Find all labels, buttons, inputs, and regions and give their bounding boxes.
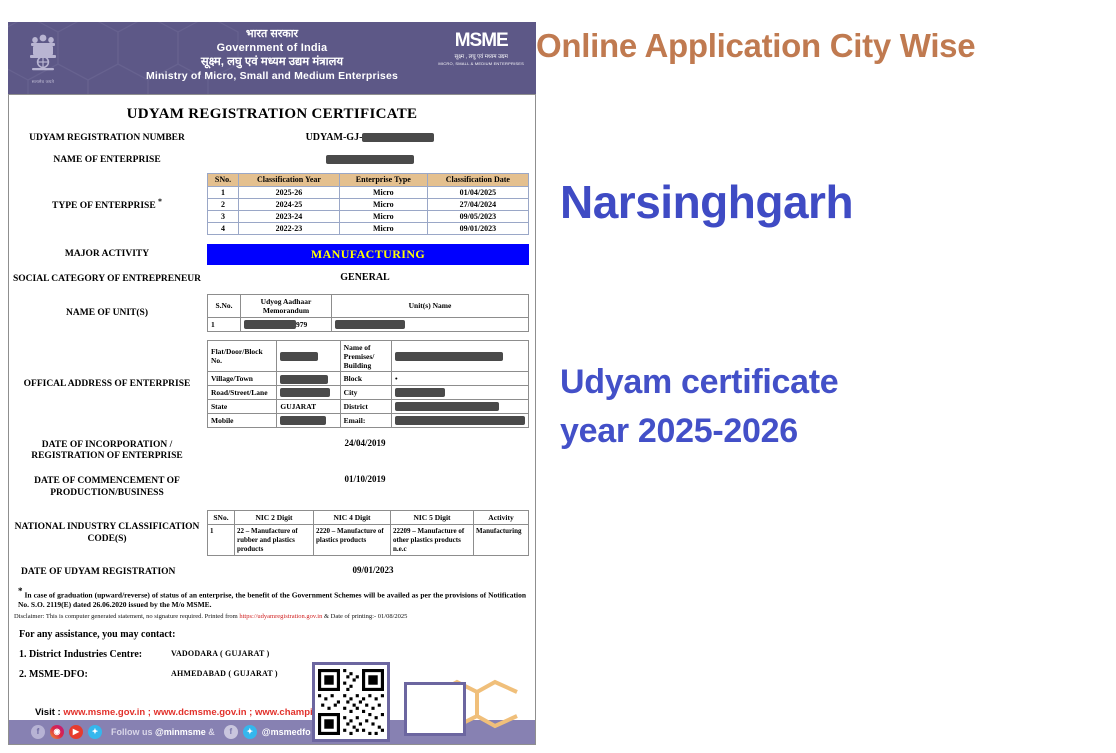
disclaimer-post: & Date of printing:- 01/08/2025	[322, 613, 407, 620]
certificate-title: UDYAM REGISTRATION CERTIFICATE	[9, 106, 535, 123]
cell-sno: 3	[208, 210, 239, 222]
cell-date: 27/04/2024	[427, 198, 528, 210]
table-row: 1 22 – Manufacture of rubber and plastic…	[208, 525, 529, 556]
flat-value	[277, 341, 340, 372]
redaction-bar	[395, 352, 503, 361]
cell-sno: 1	[208, 317, 241, 332]
table-header-row: S.No. Udyog Aadhaar Memorandum Unit(s) N…	[208, 294, 529, 317]
redaction-bar	[395, 388, 445, 397]
premises-value	[392, 341, 529, 372]
col-sno: SNo.	[208, 173, 239, 186]
city-name-heading: Narsinghgarh	[560, 175, 853, 229]
premises-label: Name of Premises/ Building	[340, 341, 391, 372]
city-label: City	[340, 386, 391, 400]
msme-logo: MSME सूक्ष्म , लघु एवं मध्यम उद्यम MICRO…	[438, 31, 524, 66]
block-value: •	[392, 372, 529, 386]
mobile-value	[277, 413, 340, 427]
certificate-year-line-1: Udyam certificate	[560, 358, 838, 407]
contact-value-dic: VADODARA ( GUJARAT )	[171, 649, 269, 660]
district-value	[392, 399, 529, 413]
ampersand: &	[206, 727, 215, 737]
contact-label-dfo: 2. MSME-DFO:	[19, 669, 171, 680]
graduation-note: * In case of graduation (upward/reverse)…	[18, 586, 526, 610]
redaction-bar	[280, 375, 328, 384]
handle-msmedfo[interactable]: @msmedfo	[262, 727, 311, 737]
road-label: Road/Street/Lane	[208, 386, 277, 400]
enterprise-name-value	[205, 153, 535, 165]
email-label: Email:	[340, 413, 391, 427]
date-udyam-registration-value: 09/01/2023	[221, 565, 535, 575]
cell-nic4: 2220 – Manufacture of plastics products	[314, 525, 391, 556]
contact-row-dic: 1. District Industries Centre: VADODARA …	[9, 649, 535, 660]
redaction-bar	[335, 320, 405, 329]
cell-type: Micro	[339, 222, 427, 234]
handle-minmsme[interactable]: @minmsme	[155, 727, 206, 737]
table-row: Road/Street/Lane City	[208, 386, 529, 400]
cell-uam-suffix: 979	[296, 320, 307, 329]
udyam-certificate-image: सत्यमेव जयते भारत सरकार Government of In…	[8, 22, 536, 745]
note-text: In case of graduation (upward/reverse) o…	[18, 591, 526, 610]
social-category-label: SOCIAL CATEGORY OF ENTREPRENEUR	[9, 272, 205, 286]
cell-uam: 979	[241, 317, 332, 332]
date-commencement-row: DATE OF COMMENCEMENT OF PRODUCTION/BUSIN…	[9, 474, 535, 500]
cell-date: 09/05/2023	[427, 210, 528, 222]
disclaimer-link[interactable]: https://udyamregistration.gov.in	[239, 613, 322, 620]
msme-logo-sub-hindi: सूक्ष्म , लघु एवं मध्यम उद्यम	[438, 52, 524, 60]
col-classification-date: Classification Date	[427, 173, 528, 186]
cell-type: Micro	[339, 198, 427, 210]
certificate-banner: सत्यमेव जयते भारत सरकार Government of In…	[8, 22, 536, 94]
table-header-row: SNo. Classification Year Enterprise Type…	[208, 173, 529, 186]
cell-nic2: 22 – Manufacture of rubber and plastics …	[235, 525, 314, 556]
facebook-icon[interactable]: f	[31, 725, 45, 739]
enterprise-name-row: NAME OF ENTERPRISE	[9, 153, 535, 167]
redaction-bar	[395, 416, 525, 425]
classification-table: SNo. Classification Year Enterprise Type…	[207, 173, 529, 235]
certificate-year-line-2: year 2025-2026	[560, 407, 838, 456]
redaction-bar	[244, 320, 296, 329]
nic-table: SNo. NIC 2 Digit NIC 4 Digit NIC 5 Digit…	[207, 510, 529, 556]
cell-nic5: 22209 – Manufacture of other plastics pr…	[391, 525, 474, 556]
cell-year: 2025-26	[239, 186, 340, 198]
panel-title: Online Application City Wise	[536, 27, 1116, 65]
date-commencement-value: 01/10/2019	[205, 474, 535, 484]
city-value	[392, 386, 529, 400]
table-row: State GUJARAT District	[208, 399, 529, 413]
enterprise-name-label: NAME OF ENTERPRISE	[9, 153, 205, 167]
type-of-enterprise-row: TYPE OF ENTERPRISE * SNo. Classification…	[9, 173, 535, 235]
col-unit-name: Unit(s) Name	[332, 294, 529, 317]
redaction-bar	[362, 133, 434, 142]
contact-value-dfo: AHMEDABAD ( GUJARAT )	[171, 669, 278, 680]
cell-year: 2024-25	[239, 198, 340, 210]
mobile-label: Mobile	[208, 413, 277, 427]
village-label: Village/Town	[208, 372, 277, 386]
table-row: 2 2024-25 Micro 27/04/2024	[208, 198, 529, 210]
qr-code-graphic	[318, 668, 384, 736]
facebook-icon[interactable]: f	[224, 725, 238, 739]
social-category-value: GENERAL	[205, 272, 535, 283]
redaction-bar	[280, 352, 318, 361]
udyam-number-label: UDYAM REGISTRATION NUMBER	[9, 131, 205, 145]
table-row: Mobile Email:	[208, 413, 529, 427]
redaction-bar	[326, 155, 414, 164]
date-udyam-registration-row: DATE OF UDYAM REGISTRATION 09/01/2023	[9, 565, 535, 579]
col-nic2: NIC 2 Digit	[235, 511, 314, 525]
flat-label: Flat/Door/Block No.	[208, 341, 277, 372]
follow-text: Follow us @minmsme &	[111, 727, 215, 737]
type-of-enterprise-label: TYPE OF ENTERPRISE *	[9, 195, 205, 213]
road-value	[277, 386, 340, 400]
block-label: Block	[340, 372, 391, 386]
redaction-bar	[280, 416, 326, 425]
major-activity-label: MAJOR ACTIVITY	[9, 247, 205, 261]
twitter-icon[interactable]: ✦	[243, 725, 257, 739]
redaction-bar	[395, 402, 499, 411]
type-of-enterprise-label-text: TYPE OF ENTERPRISE	[52, 201, 156, 211]
redaction-bar	[280, 388, 330, 397]
follow-label: Follow us	[111, 727, 155, 737]
cell-year: 2023-24	[239, 210, 340, 222]
name-of-units-row: NAME OF UNIT(S) S.No. Udyog Aadhaar Memo…	[9, 294, 535, 333]
col-uam: Udyog Aadhaar Memorandum	[241, 294, 332, 317]
nic-row: NATIONAL INDUSTRY CLASSIFICATION CODE(S)…	[9, 510, 535, 556]
right-text-panel: Online Application City Wise Narsinghgar…	[536, 0, 1116, 753]
table-header-row: SNo. NIC 2 Digit NIC 4 Digit NIC 5 Digit…	[208, 511, 529, 525]
certificate-year-heading: Udyam certificate year 2025-2026	[560, 358, 838, 457]
state-value: GUJARAT	[277, 399, 340, 413]
name-of-units-label: NAME OF UNIT(S)	[9, 306, 205, 320]
date-commencement-label: DATE OF COMMENCEMENT OF PRODUCTION/BUSIN…	[9, 474, 205, 500]
instagram-icon[interactable]: ◉	[50, 725, 64, 739]
col-sno: S.No.	[208, 294, 241, 317]
table-row: Flat/Door/Block No. Name of Premises/ Bu…	[208, 341, 529, 372]
official-address-row: OFFICAL ADDRESS OF ENTERPRISE Flat/Door/…	[9, 340, 535, 427]
qr-code[interactable]	[312, 662, 390, 742]
col-nic5: NIC 5 Digit	[391, 511, 474, 525]
village-value	[277, 372, 340, 386]
certificate-body: UDYAM REGISTRATION CERTIFICATE UDYAM REG…	[8, 94, 536, 745]
col-sno: SNo.	[208, 511, 235, 525]
disclaimer-line: Disclaimer: This is computer generated s…	[14, 613, 530, 620]
msme-logo-mark: MSME	[438, 31, 524, 50]
date-udyam-registration-label: DATE OF UDYAM REGISTRATION	[9, 565, 221, 579]
udyam-number-row: UDYAM REGISTRATION NUMBER UDYAM-GJ-	[9, 131, 535, 145]
date-incorporation-value: 24/04/2019	[205, 438, 535, 448]
table-row: 1 2025-26 Micro 01/04/2025	[208, 186, 529, 198]
official-address-label: OFFICAL ADDRESS OF ENTERPRISE	[9, 377, 205, 391]
visit-label: Visit :	[35, 707, 63, 718]
col-classification-year: Classification Year	[239, 173, 340, 186]
msme-logo-sub-english: MICRO, SMALL & MEDIUM ENTERPRISES	[438, 61, 524, 66]
cell-date: 01/04/2025	[427, 186, 528, 198]
table-row: 4 2022-23 Micro 09/01/2023	[208, 222, 529, 234]
col-nic4: NIC 4 Digit	[314, 511, 391, 525]
table-row: 1 979	[208, 317, 529, 332]
cell-type: Micro	[339, 186, 427, 198]
cell-sno: 2	[208, 198, 239, 210]
contact-label-dic: 1. District Industries Centre:	[19, 649, 171, 660]
twitter-icon[interactable]: ✦	[88, 725, 102, 739]
table-row: 3 2023-24 Micro 09/05/2023	[208, 210, 529, 222]
social-category-row: SOCIAL CATEGORY OF ENTREPRENEUR GENERAL	[9, 272, 535, 286]
cell-date: 09/01/2023	[427, 222, 528, 234]
address-table: Flat/Door/Block No. Name of Premises/ Bu…	[207, 340, 529, 427]
district-label: District	[340, 399, 391, 413]
unit-table: S.No. Udyog Aadhaar Memorandum Unit(s) N…	[207, 294, 529, 333]
table-row: Village/Town Block •	[208, 372, 529, 386]
udyam-number-value: UDYAM-GJ-	[205, 131, 535, 143]
cell-type: Micro	[339, 210, 427, 222]
major-activity-row: MAJOR ACTIVITY MANUFACTURING	[9, 244, 535, 265]
type-of-enterprise-asterisk: *	[158, 197, 162, 206]
state-label: State	[208, 399, 277, 413]
youtube-icon[interactable]: ▶	[69, 725, 83, 739]
cell-activity: Manufacturing	[474, 525, 529, 556]
classification-table-wrap: SNo. Classification Year Enterprise Type…	[205, 173, 539, 235]
nic-label: NATIONAL INDUSTRY CLASSIFICATION CODE(S)	[9, 520, 205, 546]
date-incorporation-label: DATE OF INCORPORATION / REGISTRATION OF …	[9, 438, 205, 464]
banner-line-english-2: Ministry of Micro, Small and Medium Ente…	[8, 70, 536, 83]
cell-sno: 4	[208, 222, 239, 234]
blank-white-box	[404, 682, 466, 736]
cell-sno: 1	[208, 186, 239, 198]
date-incorporation-row: DATE OF INCORPORATION / REGISTRATION OF …	[9, 438, 535, 464]
col-activity: Activity	[474, 511, 529, 525]
note-asterisk: *	[18, 586, 23, 596]
major-activity-value: MANUFACTURING	[207, 244, 529, 265]
col-enterprise-type: Enterprise Type	[339, 173, 427, 186]
cell-sno: 1	[208, 525, 235, 556]
udyam-number-text: UDYAM-GJ-	[306, 132, 363, 143]
cell-year: 2022-23	[239, 222, 340, 234]
cell-unit-name	[332, 317, 529, 332]
email-value	[392, 413, 529, 427]
disclaimer-pre: Disclaimer: This is computer generated s…	[14, 613, 239, 620]
assistance-heading: For any assistance, you may contact:	[19, 629, 535, 640]
